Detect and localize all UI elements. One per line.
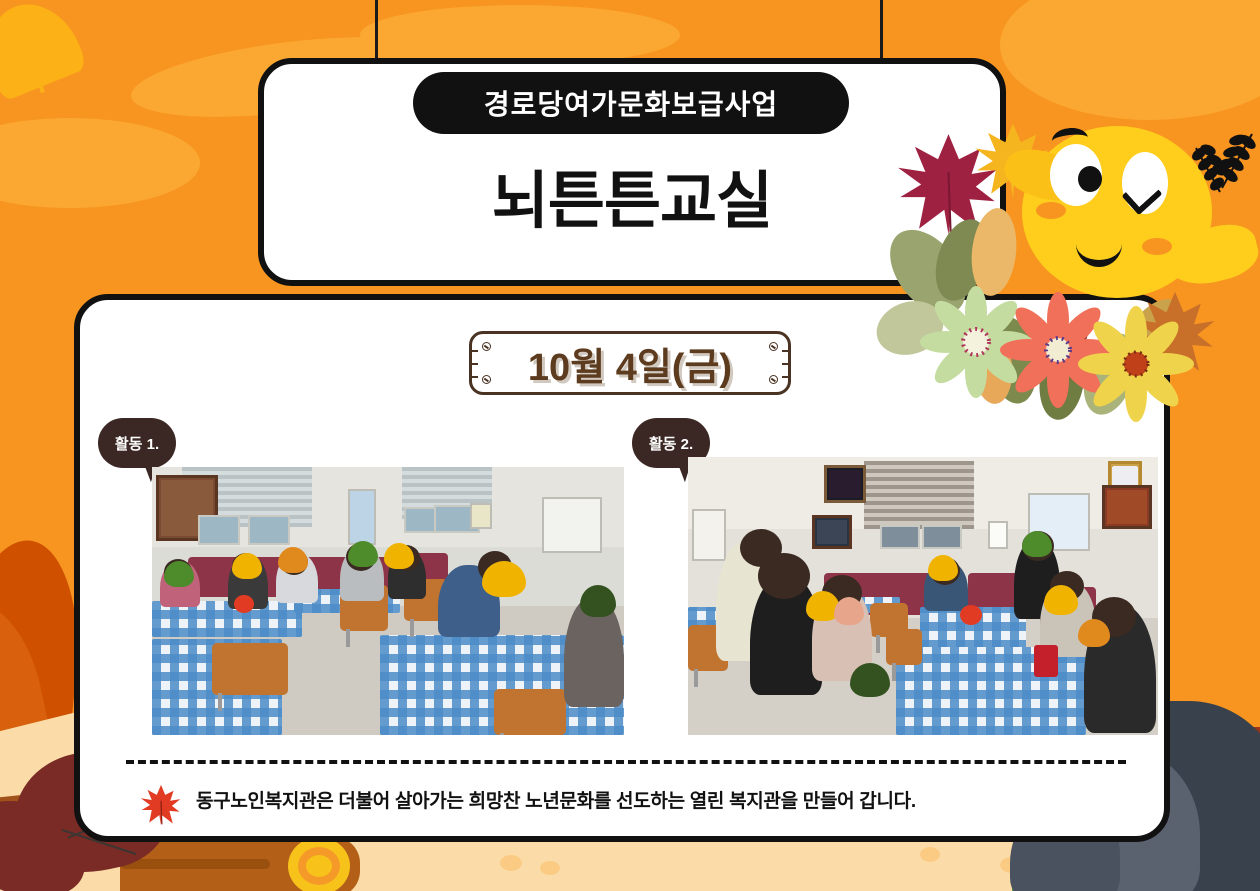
activity-photo-2	[688, 457, 1158, 735]
poster-canvas: 경로당여가문화보급사업 뇌튼튼교실 10월 4일(금) 활동 1. 활동 2.	[0, 0, 1260, 891]
screw-icon	[482, 375, 491, 384]
log-end-spiral	[306, 855, 332, 877]
footer-text: 동구노인복지관은 더불어 살아가는 희망찬 노년문화를 선도하는 열린 복지관을…	[196, 786, 1096, 813]
activity-photo-1	[152, 467, 624, 735]
screw-icon	[769, 342, 778, 351]
screw-icon	[769, 375, 778, 384]
program-banner: 경로당여가문화보급사업	[413, 72, 849, 134]
orange-blob	[1000, 0, 1260, 120]
dashed-divider	[126, 760, 1126, 764]
activity-badge-1-label: 활동 1.	[115, 433, 159, 454]
fern-sprig-icon	[1186, 128, 1260, 212]
orange-blob	[0, 118, 200, 208]
ginkgo-leaf-icon	[0, 0, 88, 102]
maple-leaf-icon	[140, 784, 182, 826]
date-badge: 10월 4일(금)	[469, 331, 791, 395]
wood-log-grain	[120, 859, 270, 869]
program-banner-label: 경로당여가문화보급사업	[484, 83, 778, 123]
activity-badge-1: 활동 1.	[98, 418, 176, 468]
screw-icon	[482, 342, 491, 351]
activity-badge-2-label: 활동 2.	[649, 433, 693, 454]
flower-group	[930, 302, 1210, 442]
date-label: 10월 4일(금)	[528, 336, 732, 391]
orange-blob	[360, 5, 680, 65]
